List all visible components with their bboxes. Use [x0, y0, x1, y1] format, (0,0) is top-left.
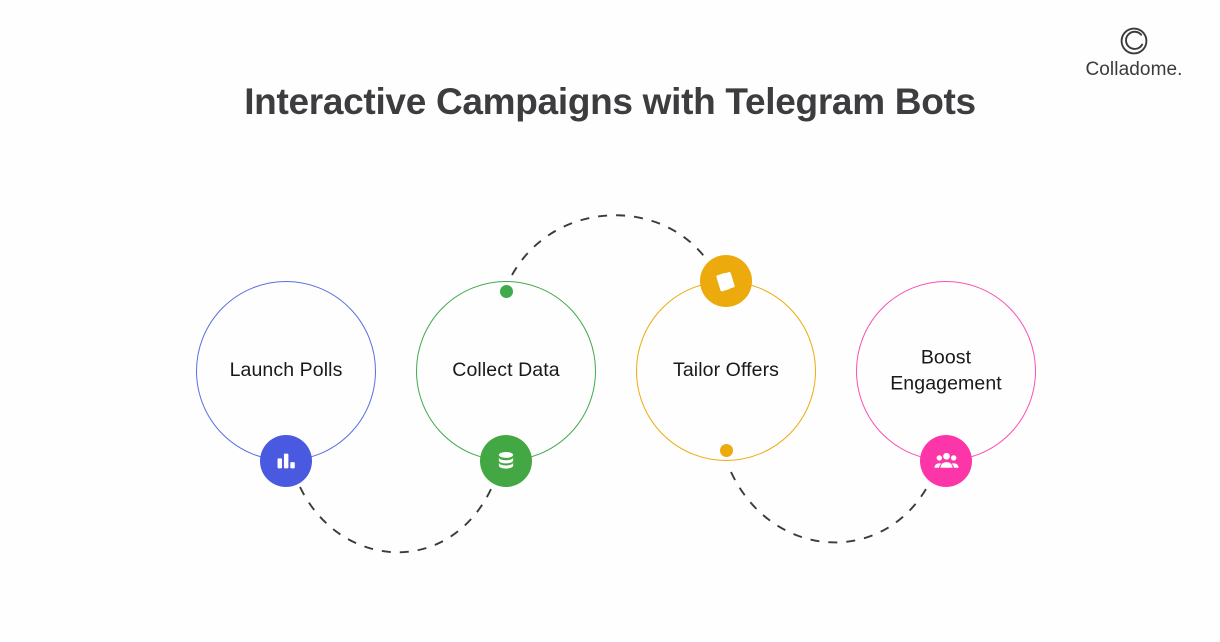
step-label-tailor-offers: Tailor Offers	[646, 358, 806, 384]
connector-launch-polls-to-collect-data	[300, 487, 492, 552]
connector-arcs	[0, 0, 1220, 642]
step-marker-dot-collect-data	[500, 285, 513, 298]
people-group-icon	[933, 448, 960, 475]
step-marker-dot-tailor-offers	[720, 444, 733, 457]
step-badge-collect-data[interactable]	[480, 435, 532, 487]
step-label-collect-data: Collect Data	[426, 358, 586, 384]
step-badge-launch-polls[interactable]	[260, 435, 312, 487]
step-badge-tailor-offers[interactable]	[700, 255, 752, 307]
connector-tailor-offers-to-boost-engagement	[731, 472, 930, 542]
bar-chart-icon	[273, 448, 299, 474]
step-node-collect-data[interactable]: Collect Data	[416, 281, 596, 461]
database-icon	[493, 448, 519, 474]
infographic-canvas: Colladome. Interactive Campaigns with Te…	[0, 0, 1220, 642]
step-badge-boost-engagement[interactable]	[920, 435, 972, 487]
step-label-launch-polls: Launch Polls	[206, 358, 366, 384]
connector-collect-data-to-tailor-offers	[512, 215, 714, 275]
process-flow-diagram: Launch Polls Collect Data	[0, 0, 1220, 642]
cards-stack-icon	[713, 268, 740, 295]
step-node-boost-engagement[interactable]: Boost Engagement	[856, 281, 1036, 461]
step-label-boost-engagement: Boost Engagement	[866, 345, 1026, 396]
step-node-launch-polls[interactable]: Launch Polls	[196, 281, 376, 461]
step-node-tailor-offers[interactable]: Tailor Offers	[636, 281, 816, 461]
